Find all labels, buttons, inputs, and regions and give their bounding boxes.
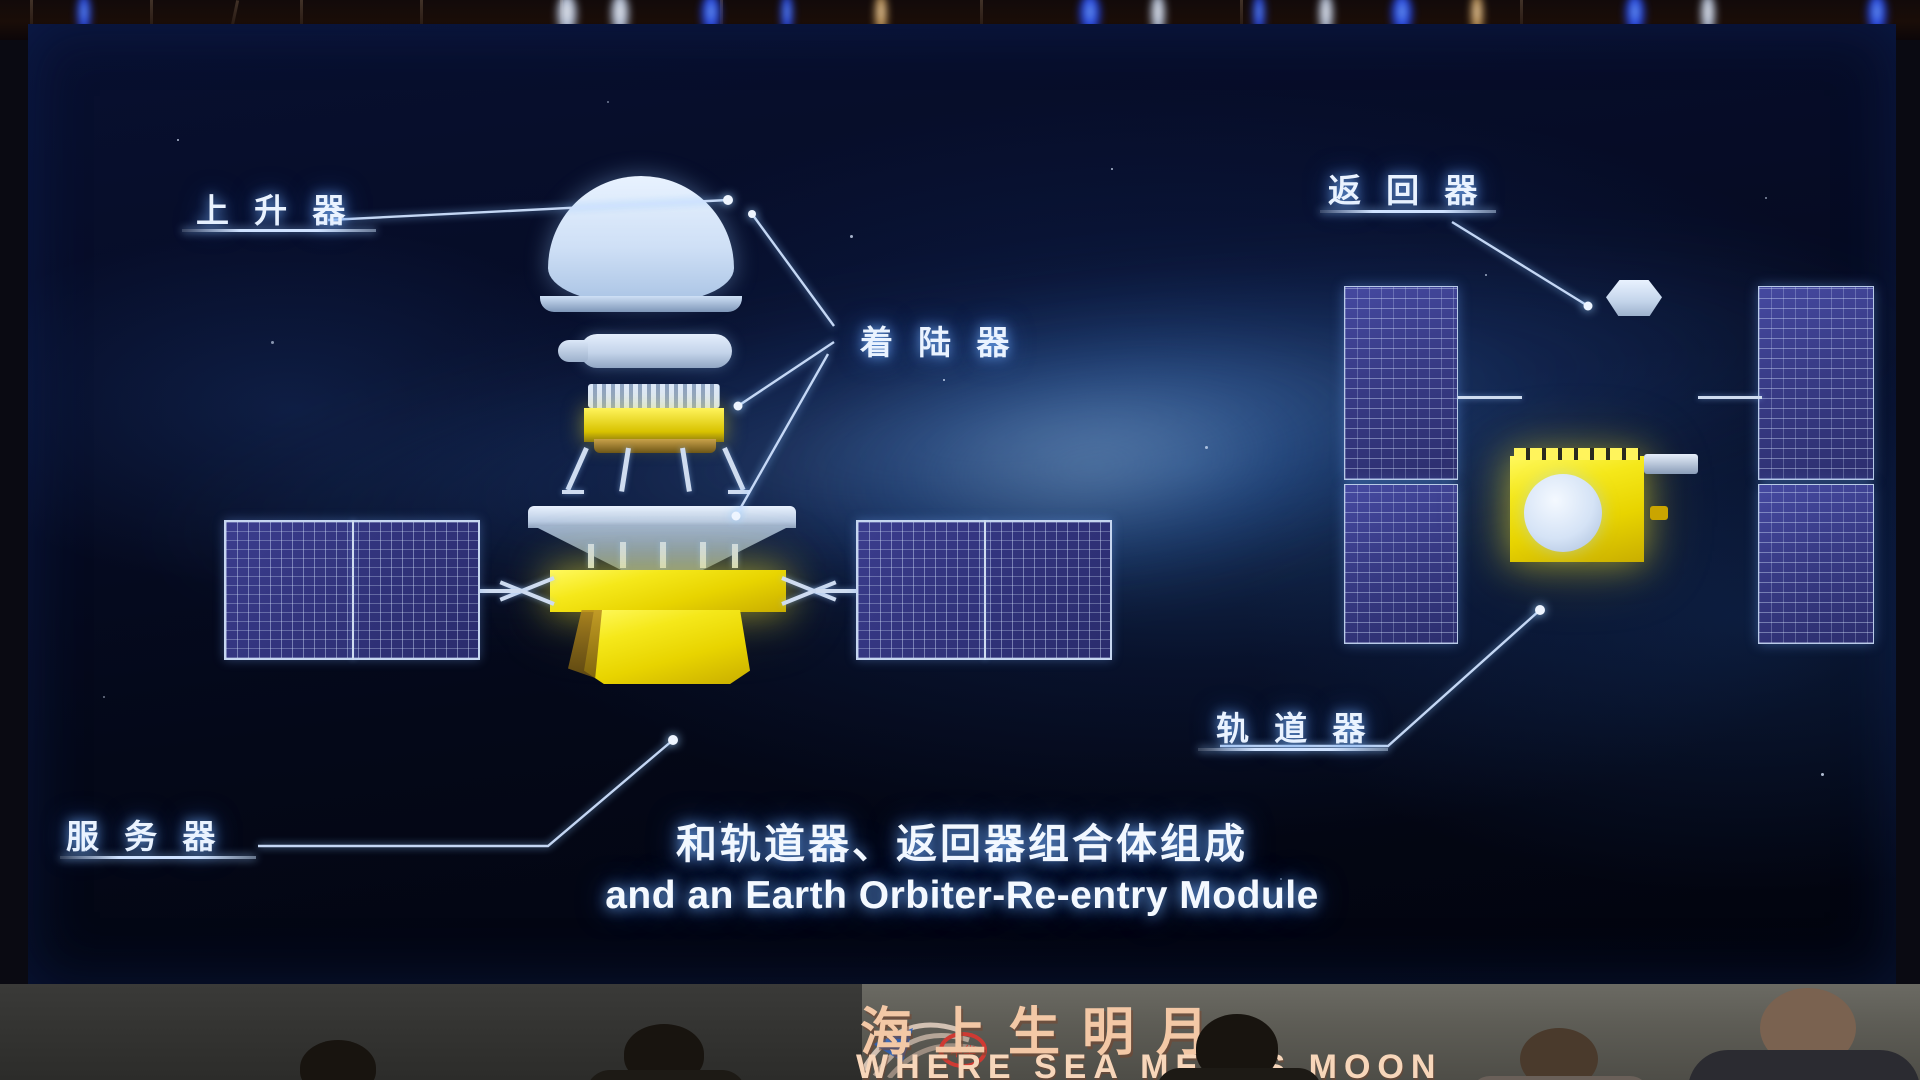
solar-array-left-upper — [1344, 286, 1458, 480]
ascender-dome-base — [540, 296, 742, 312]
dish-antenna — [1524, 474, 1602, 552]
lander-leg-right — [722, 447, 745, 491]
cylinder-module — [580, 334, 732, 368]
solar-array-right-upper — [1758, 286, 1874, 480]
service-module-gold-lower — [584, 610, 750, 684]
nozzle-3 — [660, 542, 666, 568]
audience-head-3 — [1520, 1028, 1598, 1080]
lander-body — [588, 384, 720, 408]
lander-thrusters — [594, 439, 716, 453]
ascender-dome — [548, 176, 734, 304]
callout-ascender-label: 上 升 器 — [196, 184, 353, 232]
solar-array-left-yoke — [1458, 396, 1522, 399]
lander-leg-midrt — [680, 448, 692, 492]
lander-ascender-service-assembly — [28, 24, 1128, 744]
caption-chinese: 和轨道器、返回器组合体组成 — [28, 810, 1896, 870]
solar-boom-left-stem — [480, 589, 520, 593]
slide-caption: 和轨道器、返回器组合体组成 and an Earth Orbiter-Re-en… — [28, 810, 1896, 918]
nozzle-1 — [588, 544, 594, 568]
orbiter-engine-housing — [1644, 454, 1698, 474]
solar-array-left-lower — [1344, 484, 1458, 644]
screenshot-root: 上 升 器 着 陆 器 服 务 器 返 回 器 轨 道 器 和轨道器、返回器组合… — [0, 0, 1920, 1080]
venue-floor-and-audience: 中华 海上生明月 WHERE SEA MEETS MOON — [0, 984, 1920, 1080]
lander-foot-right — [728, 490, 750, 494]
orbiter-top-fittings — [1514, 448, 1640, 460]
service-module-gold-body — [550, 570, 786, 612]
service-module-antenna-shade — [528, 506, 796, 528]
callout-lander-label: 着 陆 器 — [860, 316, 1017, 364]
caption-english: and an Earth Orbiter-Re-entry Module — [28, 874, 1896, 918]
returner-capsule — [1606, 280, 1662, 316]
solar-boom-left-bottom — [499, 580, 554, 605]
callout-ascender-underline — [182, 229, 376, 232]
presentation-slide-screen: 上 升 器 着 陆 器 服 务 器 返 回 器 轨 道 器 和轨道器、返回器组合… — [28, 24, 1896, 984]
solar-panel-left-spar — [352, 520, 354, 660]
callout-orbiter-label: 轨 道 器 — [1216, 702, 1373, 750]
nozzle-4 — [700, 542, 706, 568]
nozzle-2 — [620, 542, 626, 568]
stage-left-wall — [0, 984, 862, 1080]
solar-array-right-yoke — [1698, 396, 1762, 399]
callout-returner-underline — [1320, 210, 1496, 213]
audience-shoulders-1 — [586, 1070, 746, 1080]
backdrop-english-text: WHERE SEA MEETS MOON — [856, 1048, 1442, 1080]
lander-leg-midleft — [619, 448, 631, 492]
lander-leg-left — [566, 447, 589, 491]
audience-shoulders-2 — [1156, 1068, 1322, 1080]
lander-foot-left — [562, 490, 584, 494]
audience-shoulders-3 — [1470, 1076, 1650, 1080]
cylinder-module-boom — [558, 340, 588, 362]
audience-shoulders-4 — [1688, 1050, 1920, 1080]
orbiter-returner-assembly — [1358, 24, 1896, 744]
solar-array-right-lower — [1758, 484, 1874, 644]
solar-boom-right-stem — [816, 589, 856, 593]
callout-returner-label: 返 回 器 — [1328, 164, 1485, 212]
callout-orbiter-underline — [1198, 748, 1388, 751]
solar-boom-right-bottom — [781, 580, 836, 605]
nozzle-5 — [732, 544, 738, 568]
orbiter-side-port — [1650, 506, 1668, 520]
solar-panel-right-spar — [984, 520, 986, 660]
lander-gold-deck — [584, 408, 724, 442]
